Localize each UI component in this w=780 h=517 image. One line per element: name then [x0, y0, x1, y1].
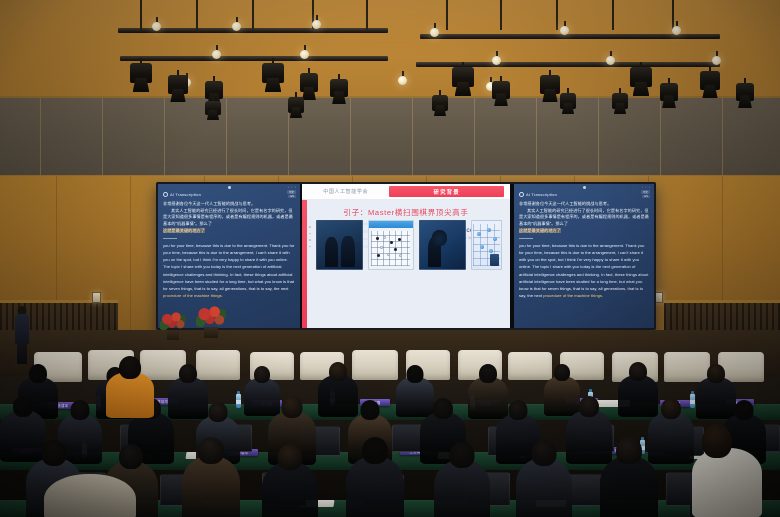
- bulb-stem: [676, 21, 678, 26]
- audience-member-head: [661, 398, 681, 419]
- stage-light-bulb: [560, 26, 569, 35]
- conference-hall-photo: • • • AI Transcription 中文 EN 非常感谢各位今天这一代…: [0, 0, 780, 517]
- cn-line-2: 其实人工智能的研究已经进行了很长时间，它是有名字的研究，但是大家知道很多事情是有…: [163, 208, 296, 228]
- chip-block: [490, 254, 499, 266]
- presenter-torso: [15, 314, 29, 344]
- panel-seam: [598, 98, 599, 175]
- bulb-stem: [304, 45, 306, 50]
- audience-member-head: [361, 400, 380, 420]
- audience-member: [600, 456, 658, 517]
- audience-member: [244, 378, 280, 416]
- corner-marker-right: • • •: [642, 186, 651, 189]
- en-highlight: procedure of the machine things.: [163, 293, 223, 298]
- stage-spotlight: [288, 92, 304, 118]
- audience-member-head: [433, 398, 453, 419]
- go-board-diagram: [368, 220, 415, 270]
- bullet-dot: [309, 246, 311, 248]
- transcription-logo-right: AI Transcription: [519, 192, 557, 197]
- stage-spotlight: [560, 88, 576, 114]
- cn-line-3-highlight: 这就是最关键的地方了: [163, 228, 205, 233]
- audience-member: [168, 377, 208, 419]
- panel-seam: [350, 98, 351, 175]
- stage-spotlight: [630, 62, 652, 96]
- audience-member-head: [532, 440, 557, 466]
- transcript-divider: [519, 238, 533, 239]
- slide-photo-row: [316, 220, 502, 270]
- stage-spotlight: [130, 58, 152, 92]
- go-stone: [398, 238, 401, 241]
- network-node: [487, 228, 491, 232]
- audience-member-head: [479, 364, 497, 383]
- neural-network-diagram: [471, 220, 503, 270]
- en-highlight: procedure of the machine things.: [543, 293, 603, 298]
- panel-seam: [536, 98, 537, 175]
- badge-english[interactable]: EN: [642, 195, 650, 198]
- transcription-screen-right[interactable]: • • • AI Transcription 中文 EN 非常感谢各位今天这一代…: [512, 184, 654, 328]
- audience-member-head: [119, 444, 143, 469]
- audience-member-head: [13, 396, 33, 417]
- audience-member-head: [407, 365, 424, 383]
- stage-spotlight: [660, 78, 678, 108]
- en-line-6: seven things, that is to say, all genera…: [169, 286, 288, 291]
- truss-drop: [252, 0, 254, 30]
- stage-spotlight: [700, 66, 720, 98]
- bullet-dot: [309, 233, 311, 235]
- name-plate-label: 张建军: [57, 403, 68, 408]
- go-stone: [377, 254, 380, 257]
- audience-member-head: [29, 364, 47, 383]
- presenter-legs: [17, 342, 27, 364]
- slide-brand-label: 中国人工智能学会: [302, 184, 389, 199]
- vip-chair: [508, 352, 552, 380]
- audience-member: [396, 377, 434, 417]
- transcription-topbar-left: AI Transcription 中文 EN: [163, 189, 296, 199]
- go-stone: [387, 253, 390, 256]
- panel-seam: [474, 98, 475, 175]
- flower-pot: [204, 327, 217, 338]
- audience-member-head: [554, 364, 570, 381]
- flower-blooms: [196, 306, 226, 330]
- bottle-label: [236, 400, 241, 404]
- stage-light-bulb: [398, 76, 407, 85]
- audience-member-head: [579, 396, 599, 417]
- audience-member-head: [735, 400, 754, 420]
- stage-spotlight: [736, 78, 754, 108]
- bulb-stem: [610, 51, 612, 56]
- badge-chinese[interactable]: 中文: [641, 190, 650, 194]
- audience-member: [516, 458, 572, 517]
- audience-member: [346, 456, 404, 517]
- go-stone: [380, 246, 383, 249]
- audience-member: [618, 375, 658, 417]
- chinese-transcript-right: 非常感谢各位今天这一代人工智能的挑战与思考。 其实人工智能的研究已经进行了很长时…: [519, 201, 650, 234]
- bulb-stem: [564, 21, 566, 26]
- stage-light-bulb: [492, 56, 501, 65]
- audience-member: [566, 410, 612, 464]
- go-stone: [383, 236, 386, 239]
- presenter-speaker: [14, 306, 30, 364]
- slide-header: 中国人工智能学会 研究背景: [302, 184, 510, 200]
- water-bottle: [690, 394, 695, 408]
- panel-seam: [164, 98, 165, 175]
- bulb-stem: [402, 71, 404, 76]
- audience-member-head: [282, 396, 303, 418]
- audience-member-head: [198, 437, 224, 464]
- english-transcript-left: you for your time, because this is due t…: [163, 242, 296, 299]
- english-transcript-right: you for your time, because this is due t…: [519, 242, 650, 299]
- audience-member-white-coat: [692, 448, 762, 517]
- stage-spotlight: [540, 70, 560, 102]
- screen-sensor-dot: [583, 186, 586, 189]
- go-grid: [371, 231, 410, 267]
- panel-seam: [102, 98, 103, 175]
- stage-spotlight: [330, 74, 348, 104]
- transcript-divider: [163, 238, 177, 239]
- bullet-dot: [309, 239, 311, 241]
- truss-drop: [196, 0, 198, 30]
- bulb-stem: [716, 51, 718, 56]
- audience-member-head: [209, 402, 228, 422]
- slide-title: 引子：Master横扫围棋界顶尖高手: [302, 207, 510, 218]
- stage-spotlight: [205, 96, 221, 120]
- truss-drop: [612, 0, 614, 30]
- presentation-slide-screen[interactable]: 中国人工智能学会 研究背景 引子：Master横扫围棋界顶尖高手: [300, 184, 512, 328]
- logo-mark-icon: [163, 192, 168, 197]
- audience-member-head: [179, 364, 197, 383]
- audience-member: [318, 375, 358, 417]
- transcription-logo-left: AI Transcription: [163, 192, 201, 197]
- slide-ribbon-label: 研究背景: [433, 188, 459, 196]
- go-stone: [399, 254, 402, 257]
- stage-spotlight: [452, 62, 474, 96]
- stage-light-bulb: [606, 56, 615, 65]
- flower-arrangement-center: [196, 306, 226, 338]
- stage-light-bulb: [232, 22, 241, 31]
- vip-chair: [664, 352, 710, 382]
- panel-seam: [40, 98, 41, 175]
- audience-member-head: [509, 400, 528, 420]
- stage-spotlight: [168, 70, 188, 102]
- bulb-stem: [316, 15, 318, 20]
- slide-body: Score: 60负 60 WINS · 0 LOSS: [302, 218, 510, 274]
- cn-line-1: 非常感谢各位今天这一代人工智能的挑战与思考。: [519, 201, 611, 206]
- flower-arrangement-left: [160, 312, 186, 340]
- audience-member-head: [42, 440, 67, 466]
- stage-light-bulb: [152, 22, 161, 31]
- player-thinking-photo: [419, 220, 466, 270]
- bulb-stem: [496, 51, 498, 56]
- cn-line-3-highlight: 这就是最关键的地方了: [519, 228, 561, 233]
- stage-spotlight: [492, 76, 510, 106]
- badge-english[interactable]: EN: [288, 195, 296, 198]
- stage-light-bulb: [300, 50, 309, 59]
- vip-chair: [352, 350, 398, 380]
- audience-member-head: [702, 424, 732, 458]
- language-badges-right[interactable]: 中文 EN: [641, 190, 650, 198]
- audience-member-orange: [106, 372, 154, 418]
- truss-drop: [500, 0, 502, 30]
- bulb-stem: [236, 17, 238, 22]
- audience-member: [262, 462, 318, 517]
- audience-member-fur-hood: [44, 474, 136, 517]
- audience-member-head: [71, 400, 90, 420]
- logo-mark-icon: [519, 192, 524, 197]
- transcription-logo-label: AI Transcription: [170, 192, 201, 197]
- slide-bullet-markers: [309, 226, 311, 252]
- stage-light-bulb: [430, 28, 439, 37]
- screen-sensor-dot: [228, 186, 231, 189]
- bulb-stem: [216, 45, 218, 50]
- truss-bar-front-left: [120, 56, 388, 61]
- stage-light-bulb: [312, 20, 321, 29]
- audience-member-head: [329, 362, 347, 381]
- truss-drop: [556, 0, 558, 30]
- bottle-label: [690, 400, 695, 404]
- go-stone: [376, 237, 379, 240]
- vip-chair: [196, 350, 240, 380]
- audience-member-head: [254, 366, 270, 383]
- truss-drop: [140, 0, 142, 30]
- audience-member-head: [362, 437, 388, 464]
- network-node: [477, 232, 481, 236]
- panel-seam: [660, 98, 661, 175]
- stage-spotlight: [612, 88, 628, 114]
- stage-spotlight: [432, 90, 448, 116]
- go-stone: [390, 241, 393, 244]
- audience-member: [182, 456, 240, 517]
- audience-member-head: [278, 444, 303, 470]
- slide-section-ribbon: 研究背景: [389, 186, 504, 197]
- audience-member-head: [119, 356, 141, 379]
- audience-member: [696, 377, 736, 419]
- badge-chinese[interactable]: 中文: [287, 190, 296, 194]
- truss-drop: [446, 0, 448, 30]
- audience-member: [648, 412, 694, 464]
- transcription-logo-label: AI Transcription: [526, 192, 557, 197]
- corner-marker-left: • • •: [288, 186, 297, 189]
- stage-light-bulb: [212, 50, 221, 59]
- truss-drop: [366, 0, 368, 30]
- go-stone: [394, 248, 397, 251]
- audience-member-head: [616, 437, 642, 464]
- transcription-topbar-right: AI Transcription 中文 EN: [519, 189, 650, 199]
- stage-light-bulb: [672, 26, 681, 35]
- network-node: [489, 249, 493, 253]
- diagram-titlebar: [369, 221, 414, 228]
- presentation-screen-wall: • • • AI Transcription 中文 EN 非常感谢各位今天这一代…: [156, 182, 656, 330]
- cn-line-2: 其实人工智能的研究已经进行了很长时间，它是有名字的研究，但是大家知道很多事情是有…: [519, 208, 650, 228]
- stage-spotlight: [262, 58, 284, 92]
- audience-member-head: [629, 362, 647, 381]
- wall-light-left: [92, 292, 101, 303]
- language-badges-left[interactable]: 中文 EN: [287, 190, 296, 198]
- bullet-dot: [309, 226, 311, 228]
- bulb-stem: [434, 23, 436, 28]
- stage-light-bulb: [712, 56, 721, 65]
- water-bottle: [236, 394, 241, 408]
- panel-seam: [412, 98, 413, 175]
- audience-member: [434, 460, 490, 517]
- flower-pot: [167, 330, 178, 340]
- acoustic-panel-band: [0, 96, 780, 178]
- audience-member: [0, 410, 46, 462]
- audience-member-head: [707, 364, 725, 383]
- transcription-screen-left[interactable]: • • • AI Transcription 中文 EN 非常感谢各位今天这一代…: [158, 184, 300, 328]
- audience-member: [544, 376, 580, 416]
- panel-seam: [722, 98, 723, 175]
- cn-line-1: 非常感谢各位今天这一代人工智能的挑战与思考。: [163, 201, 255, 206]
- audience-member: [468, 377, 508, 419]
- press-conference-photo: [316, 220, 363, 270]
- chinese-transcript-left: 非常感谢各位今天这一代人工智能的挑战与思考。 其实人工智能的研究已经进行了很长时…: [163, 201, 296, 234]
- audience-member-head: [450, 442, 475, 468]
- bulb-stem: [156, 17, 158, 22]
- panel-seam: [226, 98, 227, 175]
